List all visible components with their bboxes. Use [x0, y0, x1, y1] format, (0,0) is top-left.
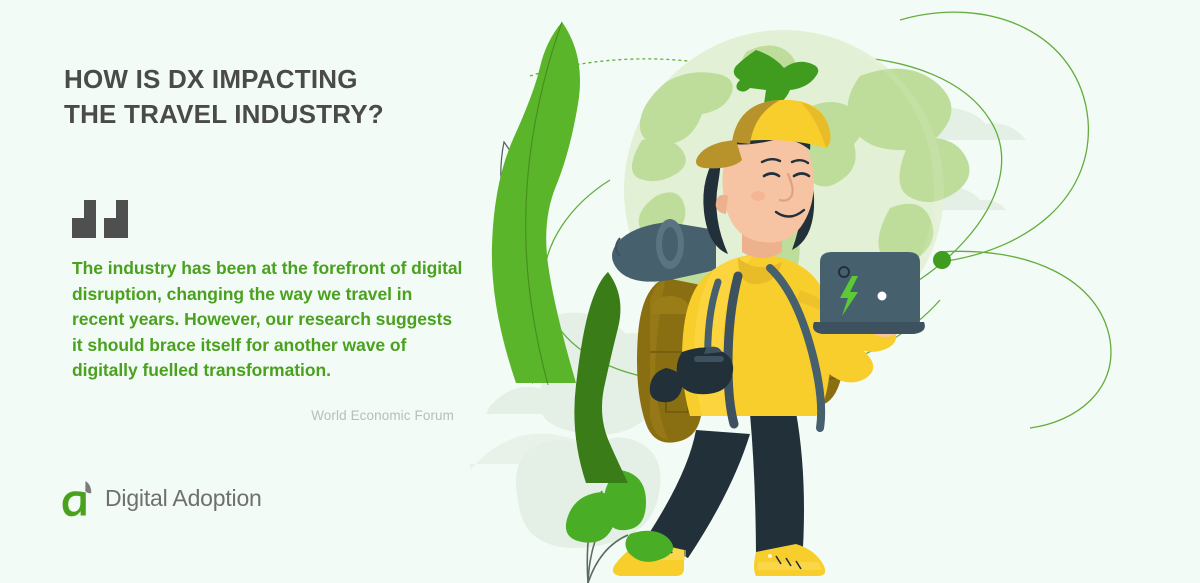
quote-attribution: World Economic Forum — [72, 408, 454, 423]
logo-wordmark: Digital Adoption — [105, 487, 262, 510]
text-column: HOW IS DX IMPACTING THE TRAVEL INDUSTRY?… — [0, 0, 520, 583]
poster-canvas: HOW IS DX IMPACTING THE TRAVEL INDUSTRY?… — [0, 0, 1200, 583]
digital-adoption-a-mark-icon — [62, 480, 96, 517]
quote-text: The industry has been at the forefront o… — [72, 256, 464, 384]
page-title-line-2: THE TRAVEL INDUSTRY? — [64, 97, 484, 132]
brand-logo[interactable]: Digital Adoption — [62, 480, 262, 517]
traveler-illustration — [470, 0, 1200, 583]
front-leg — [750, 412, 804, 564]
sleeping-mat-roll — [612, 219, 716, 282]
page-title-line-1: HOW IS DX IMPACTING — [64, 64, 358, 94]
page-title: HOW IS DX IMPACTING THE TRAVEL INDUSTRY? — [64, 62, 484, 131]
quotation-mark-icon — [70, 196, 130, 242]
laptop-with-lightning-badge — [813, 252, 925, 334]
destination-dot — [933, 251, 951, 269]
